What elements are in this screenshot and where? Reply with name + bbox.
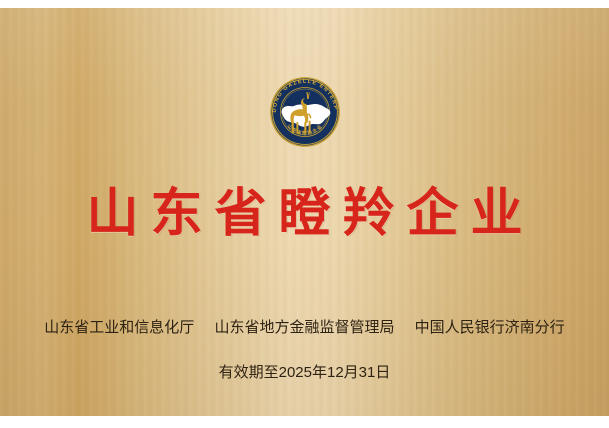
shandong-gazelle-enterprise-emblem-icon: SHANDONG GAZELLE ENTERPRISES 山东省瞪羚企业 bbox=[269, 76, 341, 148]
gold-plaque-panel: SHANDONG GAZELLE ENTERPRISES 山东省瞪羚企业 bbox=[0, 8, 609, 416]
page-title: 山东省瞪羚企业 bbox=[0, 184, 609, 246]
validity-date-text: 有效期至2025年12月31日 bbox=[0, 363, 609, 383]
issuing-agency: 山东省地方金融监督管理局 bbox=[214, 318, 394, 338]
issuing-agencies-line: 山东省工业和信息化厅 山东省地方金融监督管理局 中国人民银行济南分行 bbox=[0, 318, 609, 338]
issuing-agency: 山东省工业和信息化厅 bbox=[44, 318, 194, 338]
issuing-agency: 中国人民银行济南分行 bbox=[415, 318, 565, 338]
award-plaque-image: SHANDONG GAZELLE ENTERPRISES 山东省瞪羚企业 bbox=[0, 0, 609, 428]
